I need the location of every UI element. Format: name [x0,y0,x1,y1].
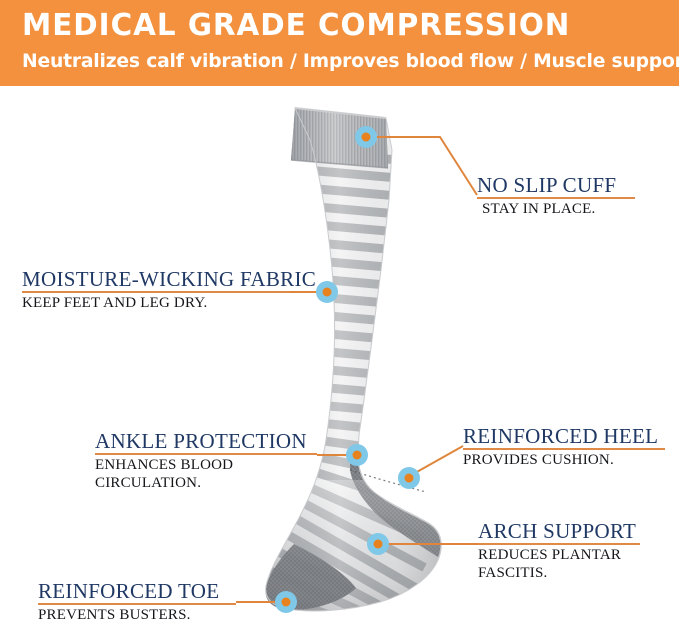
callout-rule [95,453,317,455]
callout-title: ANKLE PROTECTION [95,430,317,452]
callout-subtitle-line-2: FASCITIS. [478,565,640,583]
callout-subtitle-line-2: CIRCULATION. [95,475,317,493]
callout-subtitle: KEEP FEET AND LEG DRY. [22,295,316,313]
leader-reinforced-heel [415,446,463,473]
infographic-canvas: MEDICAL GRADE COMPRESSION Neutralizes ca… [0,0,679,629]
callout-rule [477,197,635,199]
callout-title: NO SLIP CUFF [477,174,635,196]
callout-title: REINFORCED HEEL [463,425,665,447]
callout-reinforced-toe: REINFORCED TOE PREVENTS BUSTERS. [38,580,236,625]
marker-no-slip-cuff[interactable] [355,126,377,148]
callout-no-slip-cuff: NO SLIP CUFF STAY IN PLACE. [477,174,635,219]
callout-moisture-wicking-fabric: MOISTURE-WICKING FABRIC KEEP FEET AND LE… [22,268,316,313]
callout-ankle-protection: ANKLE PROTECTION ENHANCES BLOOD CIRCULAT… [95,430,317,492]
sock-body [221,100,470,629]
callout-title: REINFORCED TOE [38,580,236,602]
marker-reinforced-heel[interactable] [398,467,420,489]
callout-subtitle-line-1: ENHANCES BLOOD [95,457,317,475]
callout-rule [478,543,640,545]
callout-title: ARCH SUPPORT [478,520,640,542]
callout-rule [38,603,236,605]
marker-ankle-protection[interactable] [346,444,368,466]
callout-subtitle: STAY IN PLACE. [482,201,635,219]
callout-subtitle: PREVENTS BUSTERS. [38,607,236,625]
marker-arch-support[interactable] [367,533,389,555]
callout-subtitle: PROVIDES CUSHION. [463,452,665,470]
callout-rule [463,448,665,450]
marker-moisture-wicking[interactable] [316,281,338,303]
callout-title: MOISTURE-WICKING FABRIC [22,268,316,290]
callout-arch-support: ARCH SUPPORT REDUCES PLANTAR FASCITIS. [478,520,640,582]
callout-reinforced-heel: REINFORCED HEEL PROVIDES CUSHION. [463,425,665,470]
callout-rule [22,291,290,293]
callout-subtitle-line-1: REDUCES PLANTAR [478,547,640,565]
marker-reinforced-toe[interactable] [275,591,297,613]
